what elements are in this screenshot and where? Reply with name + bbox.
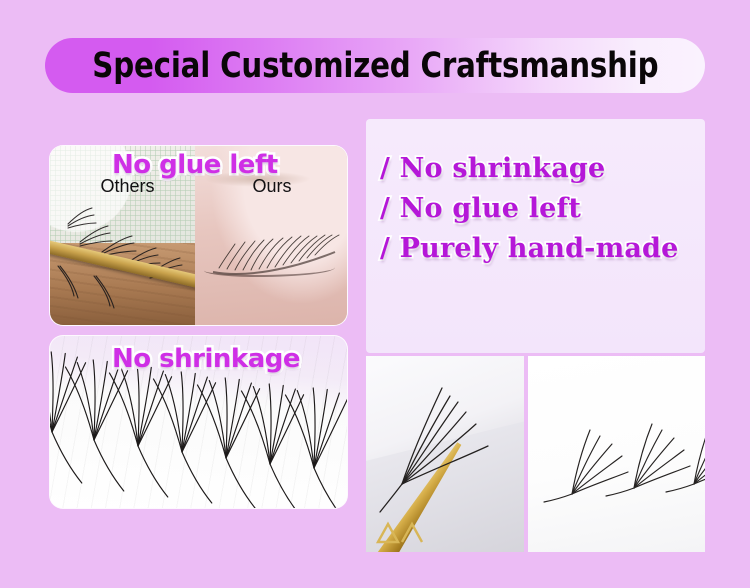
features-panel: / No shrinkage / No glue left / Purely h…: [366, 119, 705, 353]
no-shrinkage-headline: No shrinkage: [112, 344, 300, 374]
title-banner: Special Customized Craftsmanship: [45, 38, 705, 93]
three-fans-graphic: [528, 356, 705, 552]
feature-item-no-shrinkage: / No shrinkage: [380, 153, 679, 184]
feature-list: / No shrinkage / No glue left / Purely h…: [380, 153, 679, 264]
page-title: Special Customized Craftsmanship: [92, 46, 658, 86]
feature-item-purely-hand-made: / Purely hand-made: [380, 233, 679, 264]
promo-banner-page: Special Customized Craftsmanship: [0, 0, 750, 588]
no-glue-left-headline: No glue left: [112, 150, 278, 180]
comparison-card: Others Ours No glue left: [50, 146, 347, 325]
feature-item-no-glue-left: / No glue left: [380, 193, 679, 224]
brand-logo-graphic: [372, 514, 428, 548]
three-lash-fans-photo: [528, 356, 705, 552]
no-shrinkage-card: No shrinkage: [50, 336, 347, 508]
gold-tweezers-fan-photo: [366, 356, 524, 552]
